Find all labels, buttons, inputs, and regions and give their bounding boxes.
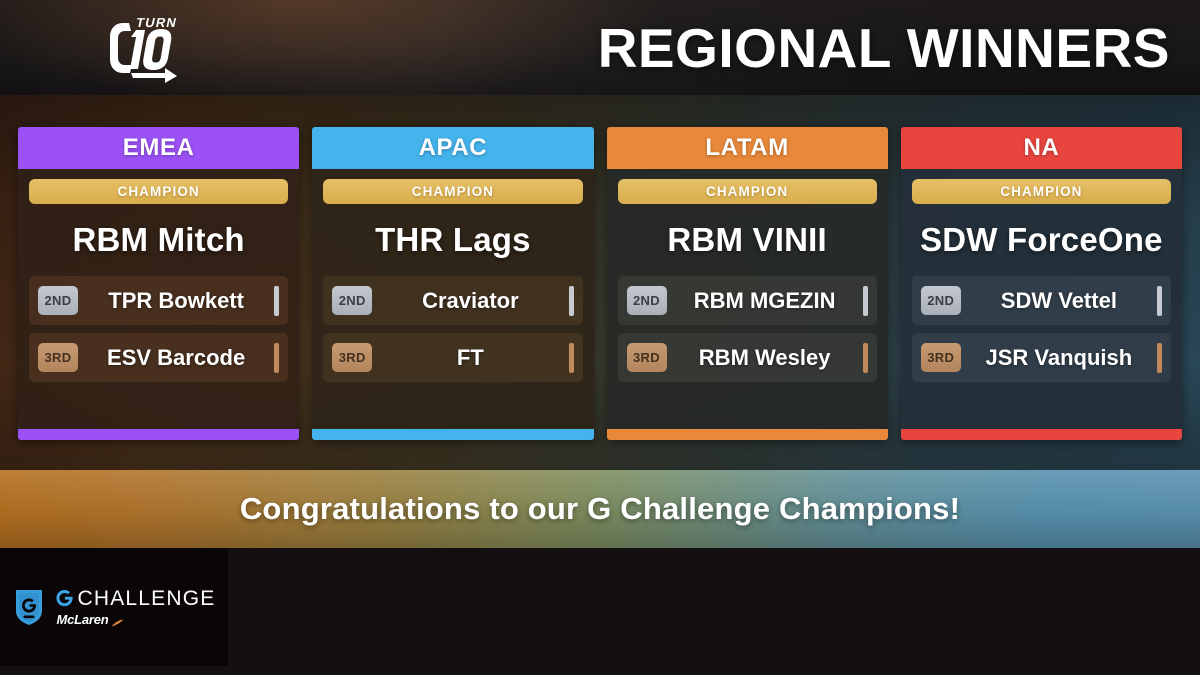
- champion-pill: CHAMPION: [29, 179, 288, 204]
- card-body: CHAMPIONTHR Lags2NDCraviator3RDFT: [312, 169, 593, 429]
- header-bar: TURN REGIONAL WINNERS: [0, 0, 1200, 95]
- champion-name: SDW ForceOne: [912, 204, 1171, 276]
- row-accent-tick: [274, 343, 279, 373]
- row-accent-tick: [863, 343, 868, 373]
- card-header-emea: EMEA: [18, 127, 299, 169]
- logitech-g-mark-icon: [55, 589, 74, 608]
- mclaren-wordmark: McLaren: [56, 613, 108, 626]
- champion-name: THR Lags: [323, 204, 582, 276]
- row-accent-tick: [1157, 343, 1162, 373]
- runner-up-row: 2NDCraviator: [323, 276, 582, 325]
- region-card-emea: EMEACHAMPIONRBM Mitch2NDTPR Bowkett3RDES…: [18, 127, 299, 440]
- place-badge-2nd: 2ND: [38, 286, 78, 315]
- runner-up-name: ESV Barcode: [78, 345, 274, 371]
- card-accent-strip: [901, 429, 1182, 440]
- runner-up-list: 2NDRBM MGEZIN3RDRBM Wesley: [618, 276, 877, 391]
- place-badge-3rd: 3RD: [627, 343, 667, 372]
- winners-band: EMEACHAMPIONRBM Mitch2NDTPR Bowkett3RDES…: [0, 95, 1200, 470]
- region-cards: EMEACHAMPIONRBM Mitch2NDTPR Bowkett3RDES…: [18, 127, 1182, 440]
- champion-pill: CHAMPION: [912, 179, 1171, 204]
- mclaren-lockup: McLaren: [56, 613, 123, 626]
- card-header-na: NA: [901, 127, 1182, 169]
- row-accent-tick: [1157, 286, 1162, 316]
- runner-up-name: JSR Vanquish: [961, 345, 1157, 371]
- runner-up-row: 3RDJSR Vanquish: [912, 333, 1171, 382]
- runner-up-name: RBM Wesley: [667, 345, 863, 371]
- place-badge-3rd: 3RD: [332, 343, 372, 372]
- runner-up-row: 3RDESV Barcode: [29, 333, 288, 382]
- card-accent-strip: [607, 429, 888, 440]
- congratulations-banner: Congratulations to our G Challenge Champ…: [0, 470, 1200, 548]
- champion-pill: CHAMPION: [323, 179, 582, 204]
- runner-up-name: RBM MGEZIN: [667, 288, 863, 314]
- mclaren-speedmark-icon: [111, 615, 124, 624]
- runner-up-row: 2NDRBM MGEZIN: [618, 276, 877, 325]
- footer-bar: CHALLENGE McLaren EMEAAPACLATAMNA: [0, 548, 1200, 675]
- champion-name: RBM Mitch: [29, 204, 288, 276]
- region-card-na: NACHAMPIONSDW ForceOne2NDSDW Vettel3RDJS…: [901, 127, 1182, 440]
- region-card-latam: LATAMCHAMPIONRBM VINII2NDRBM MGEZIN3RDRB…: [607, 127, 888, 440]
- runner-up-list: 2NDSDW Vettel3RDJSR Vanquish: [912, 276, 1171, 391]
- place-badge-2nd: 2ND: [627, 286, 667, 315]
- card-accent-strip: [18, 429, 299, 440]
- congratulations-text: Congratulations to our G Challenge Champ…: [240, 491, 960, 527]
- champion-pill: CHAMPION: [618, 179, 877, 204]
- champion-name: RBM VINII: [618, 204, 877, 276]
- runner-up-row: 2NDTPR Bowkett: [29, 276, 288, 325]
- page-title: REGIONAL WINNERS: [598, 16, 1170, 80]
- card-body: CHAMPIONRBM Mitch2NDTPR Bowkett3RDESV Ba…: [18, 169, 299, 429]
- runner-up-list: 2NDCraviator3RDFT: [323, 276, 582, 391]
- place-badge-2nd: 2ND: [921, 286, 961, 315]
- row-accent-tick: [569, 343, 574, 373]
- runner-up-row: 3RDFT: [323, 333, 582, 382]
- runner-up-name: Craviator: [372, 288, 568, 314]
- runner-up-name: SDW Vettel: [961, 288, 1157, 314]
- runner-up-name: TPR Bowkett: [78, 288, 274, 314]
- card-header-apac: APAC: [312, 127, 593, 169]
- region-card-apac: APACCHAMPIONTHR Lags2NDCraviator3RDFT: [312, 127, 593, 440]
- place-badge-3rd: 3RD: [921, 343, 961, 372]
- card-body: CHAMPIONSDW ForceOne2NDSDW Vettel3RDJSR …: [901, 169, 1182, 429]
- row-accent-tick: [863, 286, 868, 316]
- place-badge-2nd: 2ND: [332, 286, 372, 315]
- winners-graphic: TURN REGIONAL WINNERS EMEACHAMPIONRBM Mi…: [0, 0, 1200, 675]
- logitech-g-shield-icon: [12, 587, 46, 627]
- turn-10-logo: TURN: [103, 10, 183, 84]
- row-accent-tick: [274, 286, 279, 316]
- g-challenge-wordmark: CHALLENGE: [77, 588, 215, 609]
- runner-up-name: FT: [372, 345, 568, 371]
- card-body: CHAMPIONRBM VINII2NDRBM MGEZIN3RDRBM Wes…: [607, 169, 888, 429]
- card-accent-strip: [312, 429, 593, 440]
- g-challenge-logo-panel: CHALLENGE McLaren: [0, 548, 228, 666]
- svg-text:TURN: TURN: [135, 15, 179, 30]
- card-header-latam: LATAM: [607, 127, 888, 169]
- row-accent-tick: [569, 286, 574, 316]
- place-badge-3rd: 3RD: [38, 343, 78, 372]
- runner-up-row: 2NDSDW Vettel: [912, 276, 1171, 325]
- runner-up-list: 2NDTPR Bowkett3RDESV Barcode: [29, 276, 288, 391]
- runner-up-row: 3RDRBM Wesley: [618, 333, 877, 382]
